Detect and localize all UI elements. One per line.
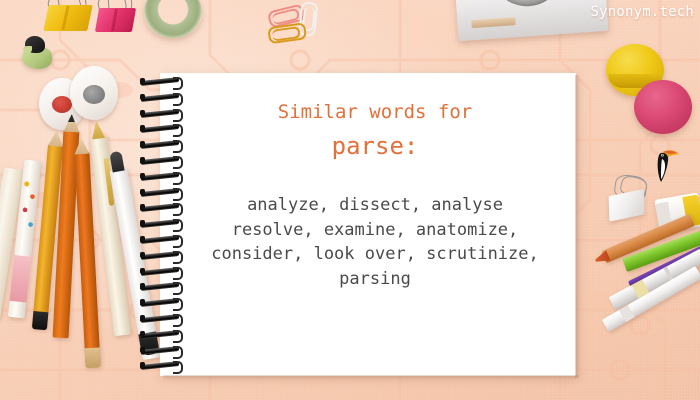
- synonym-line: consider, look over, scrutinize,: [190, 242, 560, 267]
- spiral-coil-cap: [140, 283, 145, 290]
- spiral-coil-cap: [140, 173, 145, 180]
- spiral-coil: [141, 236, 183, 243]
- spiral-coil: [141, 268, 183, 275]
- spiral-coil: [141, 189, 183, 196]
- synonym-line: analyze, dissect, analyse: [190, 193, 560, 218]
- spiral-coil-hook: [173, 251, 183, 264]
- spiral-coil-hook: [173, 361, 183, 374]
- spiral-coil-hook: [173, 235, 183, 248]
- spiral-coil-hook: [173, 330, 183, 343]
- spiral-coil: [141, 94, 183, 101]
- page-shadow-right: [575, 75, 580, 378]
- page-shadow-bottom: [163, 375, 579, 380]
- spiral-coil: [141, 204, 183, 211]
- spiral-coil-cap: [140, 331, 145, 338]
- spiral-coil: [141, 299, 183, 306]
- spiral-coil-hook: [173, 267, 183, 280]
- spiral-coil-cap: [140, 236, 145, 243]
- site-logo[interactable]: Synonym.tech: [590, 4, 694, 20]
- spiral-coil: [141, 220, 183, 227]
- spiral-coil: [141, 315, 183, 322]
- spiral-coil-hook: [173, 314, 183, 327]
- page-title: Similar words for: [190, 97, 560, 127]
- spiral-coil-cap: [140, 94, 145, 101]
- spiral-coil: [141, 347, 183, 354]
- gray-stamp-eraser: [70, 66, 118, 120]
- spiral-coil-cap: [140, 78, 145, 85]
- spiral-coil-cap: [140, 347, 145, 354]
- spiral-coil: [141, 157, 183, 164]
- pink-macaron: [634, 80, 692, 134]
- spiral-coil: [141, 331, 183, 338]
- washi-tape-roll: [144, 0, 202, 38]
- spiral-coil-cap: [140, 204, 145, 211]
- spiral-coil: [141, 283, 183, 290]
- spiral-coil: [141, 78, 183, 85]
- synonym-line: parsing: [190, 267, 560, 292]
- spiral-coil-hook: [173, 203, 183, 216]
- spiral-coil-cap: [140, 268, 145, 275]
- synonym-list: analyze, dissect, analyse resolve, exami…: [190, 193, 560, 291]
- spiral-binding: [141, 78, 185, 378]
- spiral-coil: [141, 141, 183, 148]
- spiral-coil-cap: [140, 141, 145, 148]
- spiral-coil-hook: [173, 124, 183, 137]
- spiral-coil: [141, 125, 183, 132]
- spiral-coil-hook: [173, 156, 183, 169]
- spiral-coil-hook: [173, 346, 183, 359]
- spiral-coil-hook: [173, 172, 183, 185]
- spiral-coil-cap: [140, 110, 145, 117]
- spiral-coil-cap: [140, 220, 145, 227]
- spiral-coil-cap: [140, 362, 145, 369]
- spiral-coil-cap: [140, 125, 145, 132]
- notepad-content: Similar words for parse: analyze, dissec…: [190, 97, 560, 291]
- headword: parse:: [190, 129, 560, 163]
- spiral-coil-cap: [140, 299, 145, 306]
- spiral-coil: [141, 252, 183, 259]
- spiral-coil: [141, 173, 183, 180]
- spiral-coil-cap: [140, 189, 145, 196]
- yellow-binder-clip: [44, 0, 94, 34]
- spiral-coil-hook: [173, 109, 183, 122]
- notepad-page: Similar words for parse: analyze, dissec…: [160, 73, 576, 376]
- spiral-coil: [141, 362, 183, 369]
- spiral-coil-cap: [140, 252, 145, 259]
- spiral-coil-hook: [173, 140, 183, 153]
- spiral-coil-cap: [140, 315, 145, 322]
- screenshot-scene: Similar words for parse: analyze, dissec…: [0, 0, 700, 400]
- pink-binder-clip: [96, 2, 138, 34]
- spiral-coil-hook: [173, 298, 183, 311]
- spiral-coil-hook: [173, 282, 183, 295]
- spiral-coil-hook: [173, 77, 183, 90]
- spiral-coil-cap: [140, 157, 145, 164]
- spiral-coil-hook: [173, 93, 183, 106]
- spiral-coil-hook: [173, 188, 183, 201]
- bird-eraser: [18, 36, 54, 70]
- synonym-line: resolve, examine, anatomize,: [190, 218, 560, 243]
- spiral-coil: [141, 110, 183, 117]
- spiral-coil-hook: [173, 219, 183, 232]
